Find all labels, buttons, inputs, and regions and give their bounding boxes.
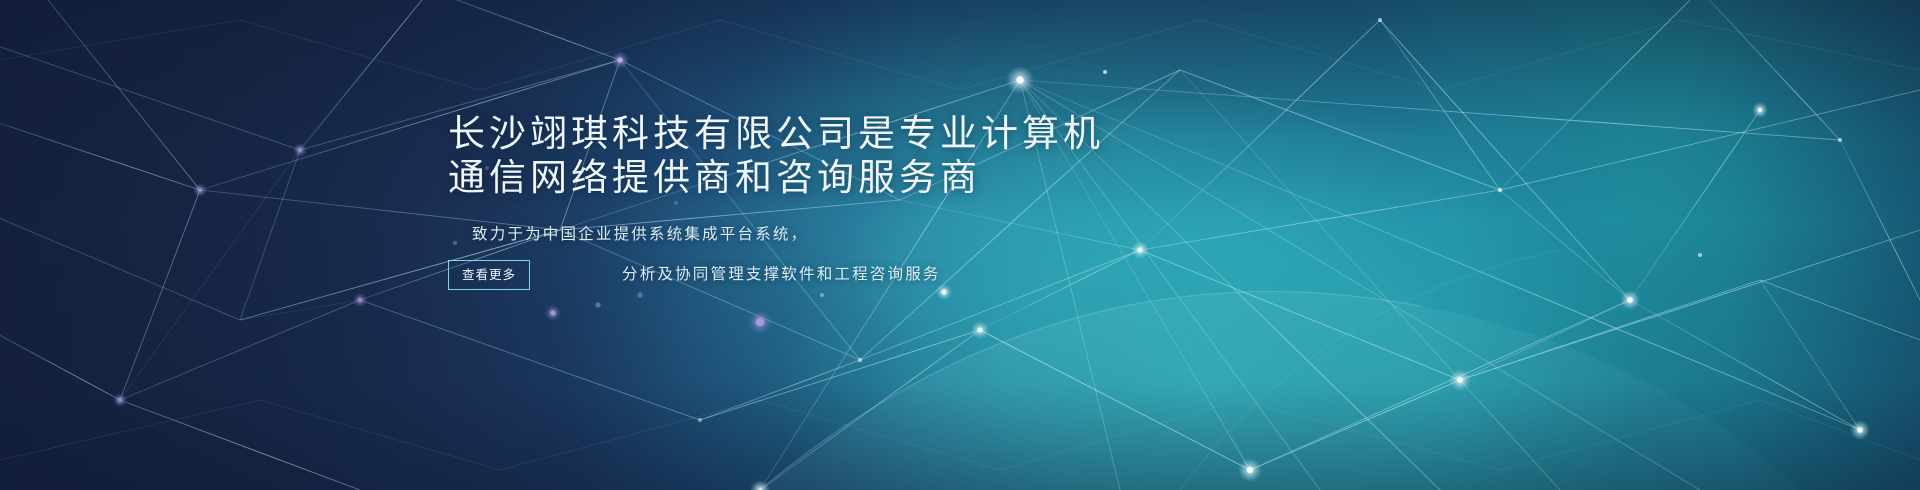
hero-banner: 长沙翊琪科技有限公司是专业计算机 通信网络提供商和咨询服务商 致力于为中国企业提… [0, 0, 1920, 490]
subtitle-line-2: 分析及协同管理支撑软件和工程咨询服务 [448, 254, 1478, 294]
view-more-button[interactable]: 查看更多 [448, 260, 530, 290]
banner-content: 长沙翊琪科技有限公司是专业计算机 通信网络提供商和咨询服务商 致力于为中国企业提… [448, 112, 1478, 294]
subtitle-line-1: 致力于为中国企业提供系统集成平台系统， [448, 214, 1478, 254]
headline-line-1: 长沙翊琪科技有限公司是专业计算机 [448, 112, 1478, 156]
subtitle: 致力于为中国企业提供系统集成平台系统， 分析及协同管理支撑软件和工程咨询服务 [448, 214, 1478, 294]
headline-line-2: 通信网络提供商和咨询服务商 [448, 156, 1478, 200]
cta-row: 查看更多 [448, 260, 530, 290]
